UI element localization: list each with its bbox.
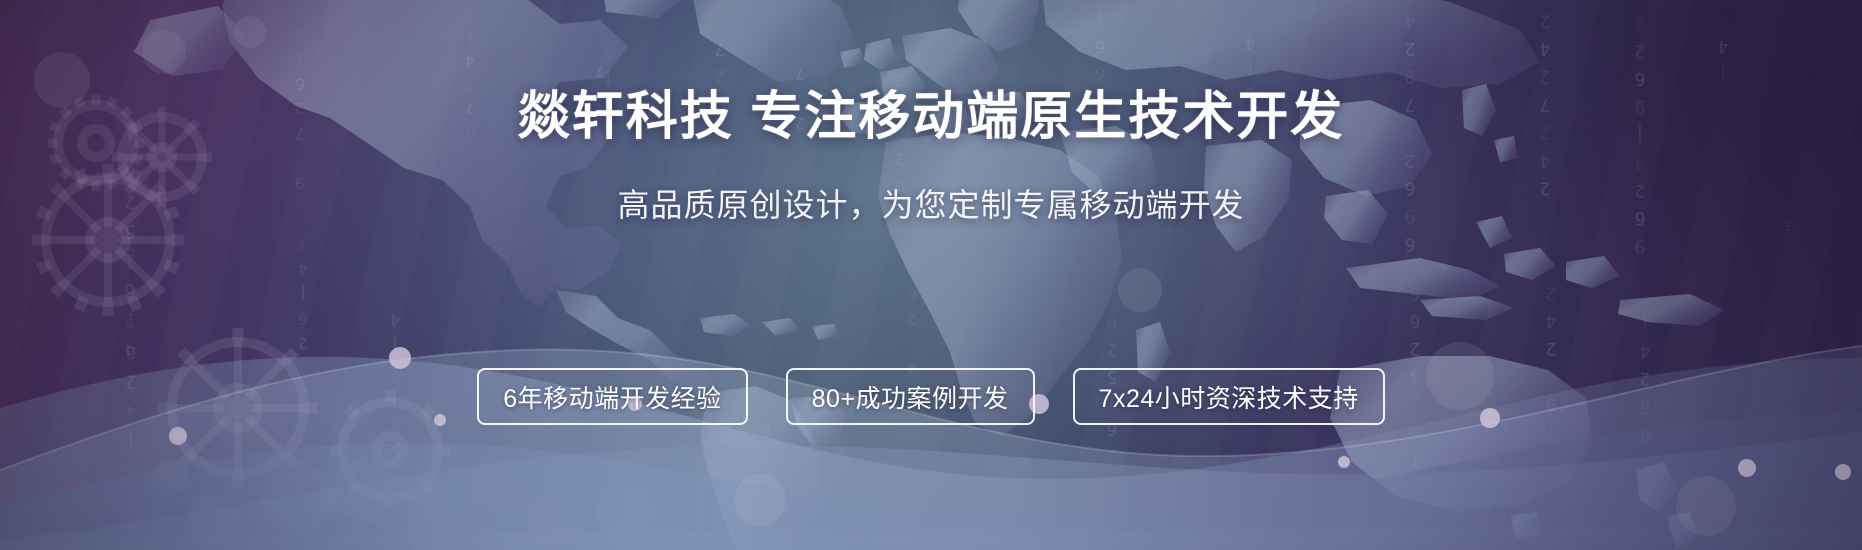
banner-content: 燚轩科技 专注移动端原生技术开发 高品质原创设计，为您定制专属移动端开发 6年移… bbox=[0, 0, 1862, 550]
feature-badge-cases[interactable]: 80+成功案例开发 bbox=[786, 368, 1035, 425]
feature-badge-group: 6年移动端开发经验 80+成功案例开发 7x24小时资深技术支持 bbox=[0, 368, 1862, 425]
feature-badge-experience[interactable]: 6年移动端开发经验 bbox=[477, 368, 747, 425]
banner-headline: 燚轩科技 专注移动端原生技术开发 bbox=[0, 74, 1862, 149]
feature-badge-support[interactable]: 7x24小时资深技术支持 bbox=[1073, 368, 1385, 425]
banner-subheadline: 高品质原创设计，为您定制专属移动端开发 bbox=[0, 180, 1862, 226]
hero-banner: 6251624|624|624291627924|62425-4|7|2526|… bbox=[0, 0, 1862, 550]
